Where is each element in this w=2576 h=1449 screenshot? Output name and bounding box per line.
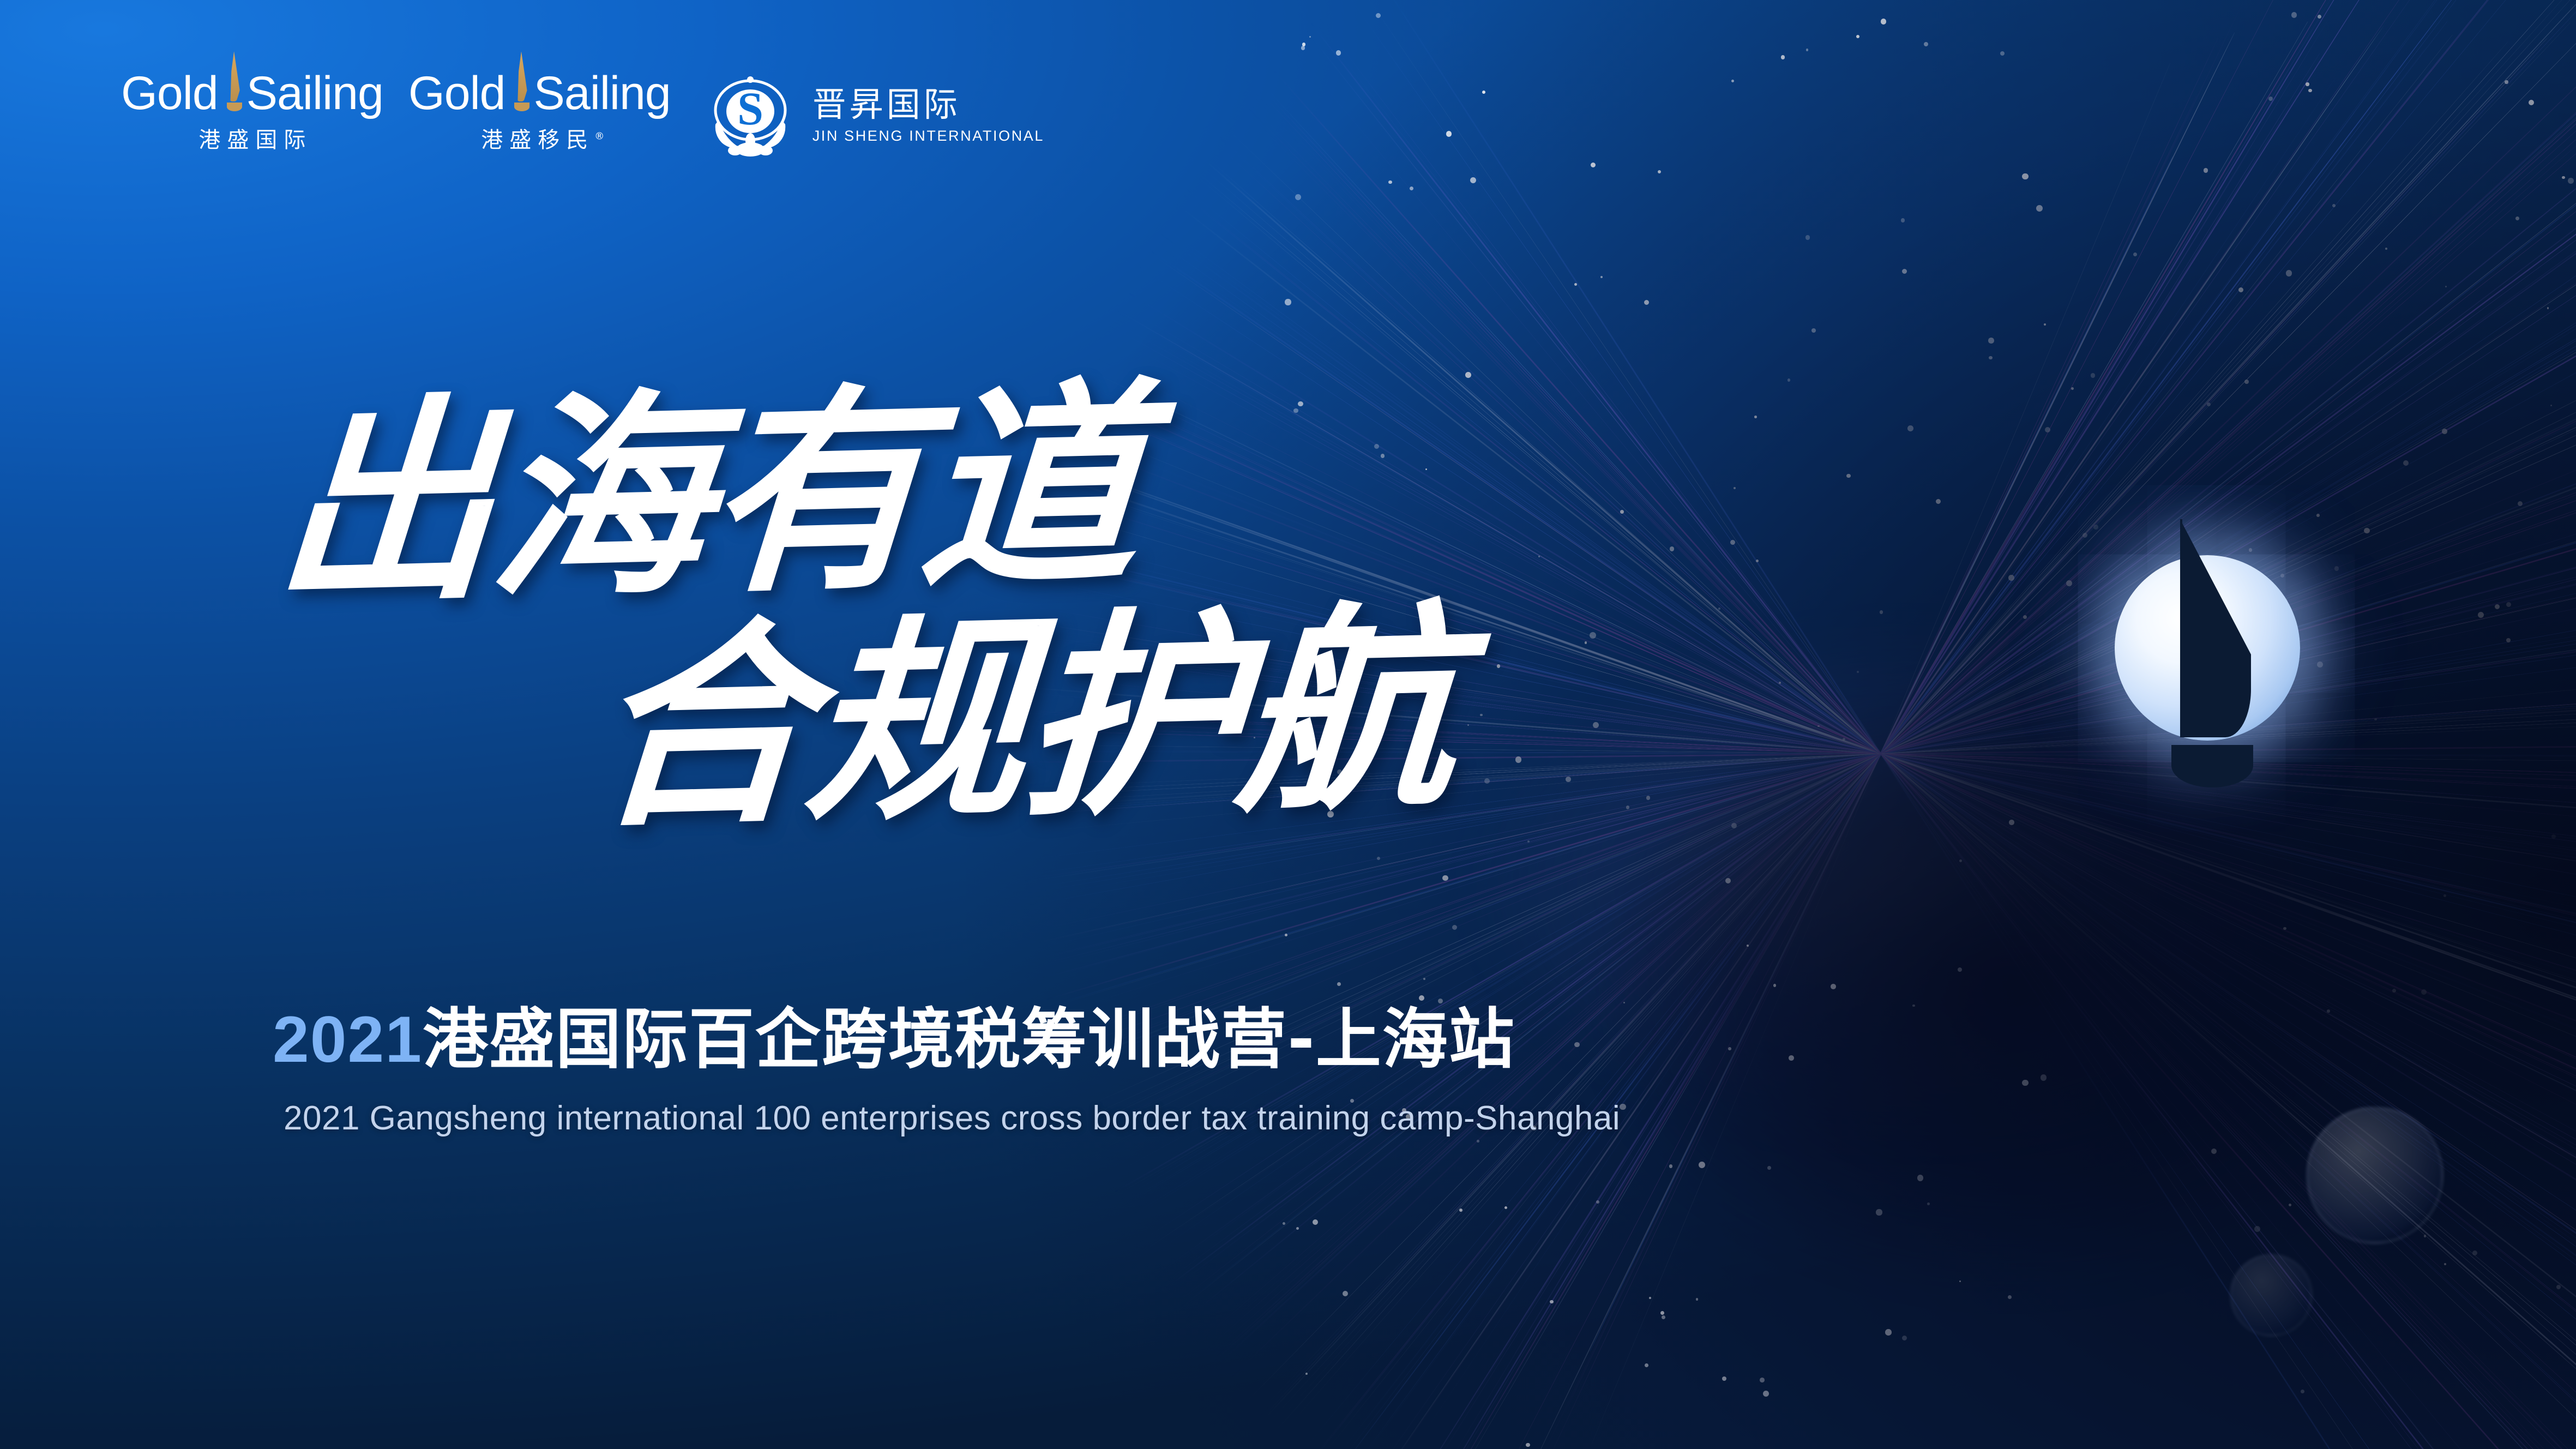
subtitle-english: 2021 Gangsheng international 100 enterpr… — [284, 1102, 1620, 1135]
sailboat-hull — [2171, 745, 2253, 787]
logo-word-gold: Gold — [121, 70, 218, 117]
subtitle-chinese: 2021港盛国际百企跨境税筹训战营-上海站 — [273, 1007, 1515, 1073]
logo-chinese-name: 晋昇国际 — [812, 87, 1044, 122]
gold-sail-icon — [508, 64, 533, 117]
jin-sheng-text-block: 晋昇国际 JIN SHENG INTERNATIONAL — [812, 87, 1044, 145]
sailboat-mast — [2180, 519, 2182, 737]
bokeh-bubble — [2230, 1254, 2312, 1336]
logo-wordmark: Gold Sailing — [408, 64, 671, 117]
headline-line-2: 合规护航 — [583, 532, 1464, 869]
logo-chinese-name: 港盛国际 — [192, 122, 312, 154]
subtitle-year: 2021 — [273, 1003, 423, 1076]
laurel-wreath-s-emblem-icon: S — [702, 68, 798, 164]
sailboat-silhouette-icon — [2143, 519, 2279, 792]
gold-sail-icon — [220, 64, 245, 117]
logo-wordmark: Gold Sailing — [121, 64, 383, 117]
svg-text:S: S — [737, 82, 763, 135]
logo-bar: Gold Sailing 港盛国际 Gold Sailing 港盛移民® — [121, 64, 1044, 164]
logo-gold-sailing-immigration[interactable]: Gold Sailing 港盛移民® — [408, 64, 671, 154]
bokeh-bubble — [2307, 1107, 2443, 1243]
registered-mark: ® — [594, 131, 604, 142]
sailboat-sail — [2180, 519, 2251, 737]
logo-english-name: JIN SHENG INTERNATIONAL — [812, 128, 1044, 145]
logo-word-gold: Gold — [408, 70, 505, 117]
event-banner: Gold Sailing 港盛国际 Gold Sailing 港盛移民® — [0, 0, 2576, 1449]
logo-jin-sheng-international[interactable]: S 晋昇国际 JIN SHENG INTERNATIONAL — [702, 68, 1044, 164]
headline-calligraphy: 出海有道 合规护航 — [273, 319, 1745, 973]
logo-gold-sailing-international[interactable]: Gold Sailing 港盛国际 — [121, 64, 383, 154]
logo-word-sailing: Sailing — [246, 70, 383, 117]
subtitle-chinese-text: 港盛国际百企跨境税筹训战营-上海站 — [423, 1002, 1515, 1078]
logo-chinese-name: 港盛移民® — [474, 122, 604, 154]
logo-word-sailing: Sailing — [534, 70, 671, 117]
